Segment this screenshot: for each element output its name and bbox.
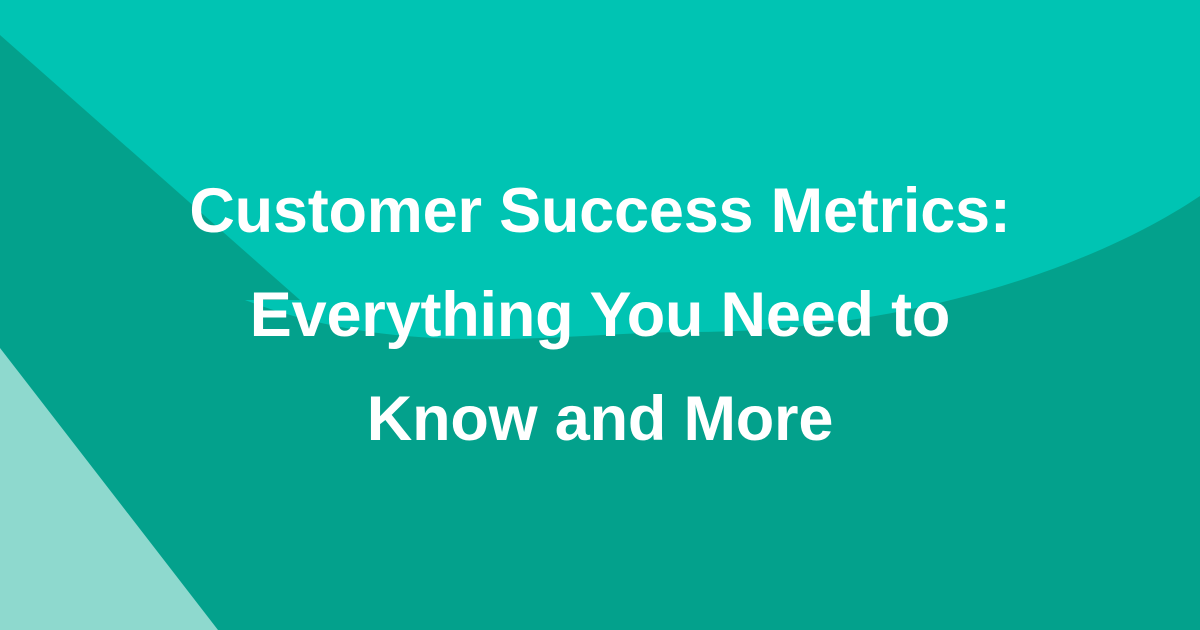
page-title: Customer Success Metrics: Everything You… <box>0 0 1200 630</box>
social-card: Customer Success Metrics: Everything You… <box>0 0 1200 630</box>
title-line-2: Everything You Need to <box>250 263 950 367</box>
title-line-1: Customer Success Metrics: <box>189 159 1010 263</box>
title-line-3: Know and More <box>367 367 833 471</box>
